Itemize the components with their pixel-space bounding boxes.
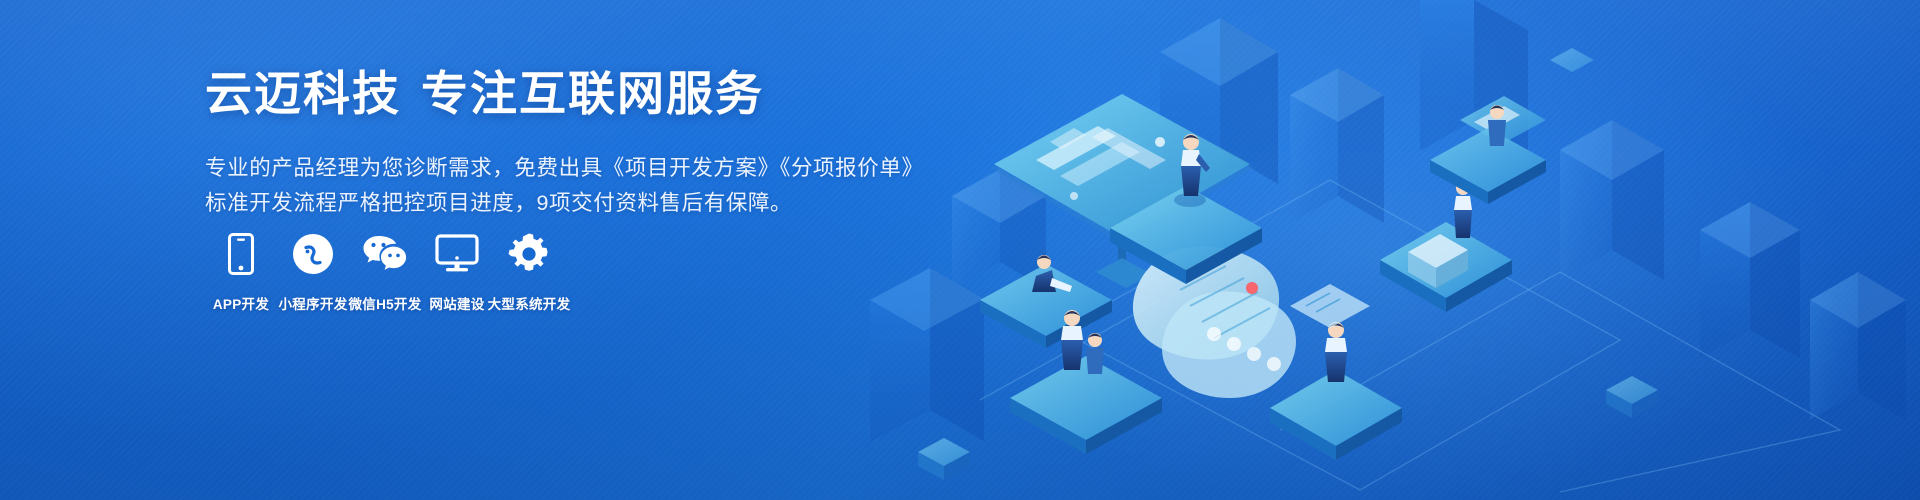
- service-label: 微信H5开发: [348, 293, 421, 313]
- hero-subtitle: 专业的产品经理为您诊断需求，免费出具《项目开发方案》《分项报价单》 标准开发流程…: [205, 151, 925, 221]
- subtitle-line-2: 标准开发流程严格把控项目进度，9项交付资料售后有保障。: [205, 186, 925, 221]
- service-item-website[interactable]: 网站建设: [421, 231, 493, 313]
- service-label: 大型系统开发: [488, 293, 571, 313]
- service-label: 小程序开发: [279, 293, 348, 313]
- mini-program-icon: [292, 231, 334, 277]
- isometric-tech-teamwork-illustration: [860, 0, 1920, 500]
- hero-banner: 云迈科技专注互联网服务 专业的产品经理为您诊断需求，免费出具《项目开发方案》《分…: [0, 0, 1920, 500]
- wechat-icon: [362, 231, 408, 277]
- service-label: 网站建设: [429, 293, 484, 313]
- gear-icon: [508, 231, 550, 277]
- headline-brand: 云迈科技: [205, 67, 401, 120]
- service-item-mini-program[interactable]: 小程序开发: [277, 231, 349, 313]
- page-title: 云迈科技专注互联网服务: [205, 68, 925, 120]
- hero-text-block: 云迈科技专注互联网服务 专业的产品经理为您诊断需求，免费出具《项目开发方案》《分…: [205, 68, 925, 220]
- service-list: APP开发 小程序开发: [205, 231, 565, 313]
- monitor-icon: [435, 231, 479, 277]
- mobile-phone-icon: [228, 231, 254, 277]
- headline-tagline: 专注互联网服务: [421, 67, 764, 120]
- service-item-app[interactable]: APP开发: [205, 231, 277, 313]
- service-label: APP开发: [213, 293, 269, 313]
- service-item-large-system[interactable]: 大型系统开发: [493, 231, 565, 313]
- subtitle-line-1: 专业的产品经理为您诊断需求，免费出具《项目开发方案》《分项报价单》: [205, 151, 925, 186]
- service-item-wechat-h5[interactable]: 微信H5开发: [349, 231, 421, 313]
